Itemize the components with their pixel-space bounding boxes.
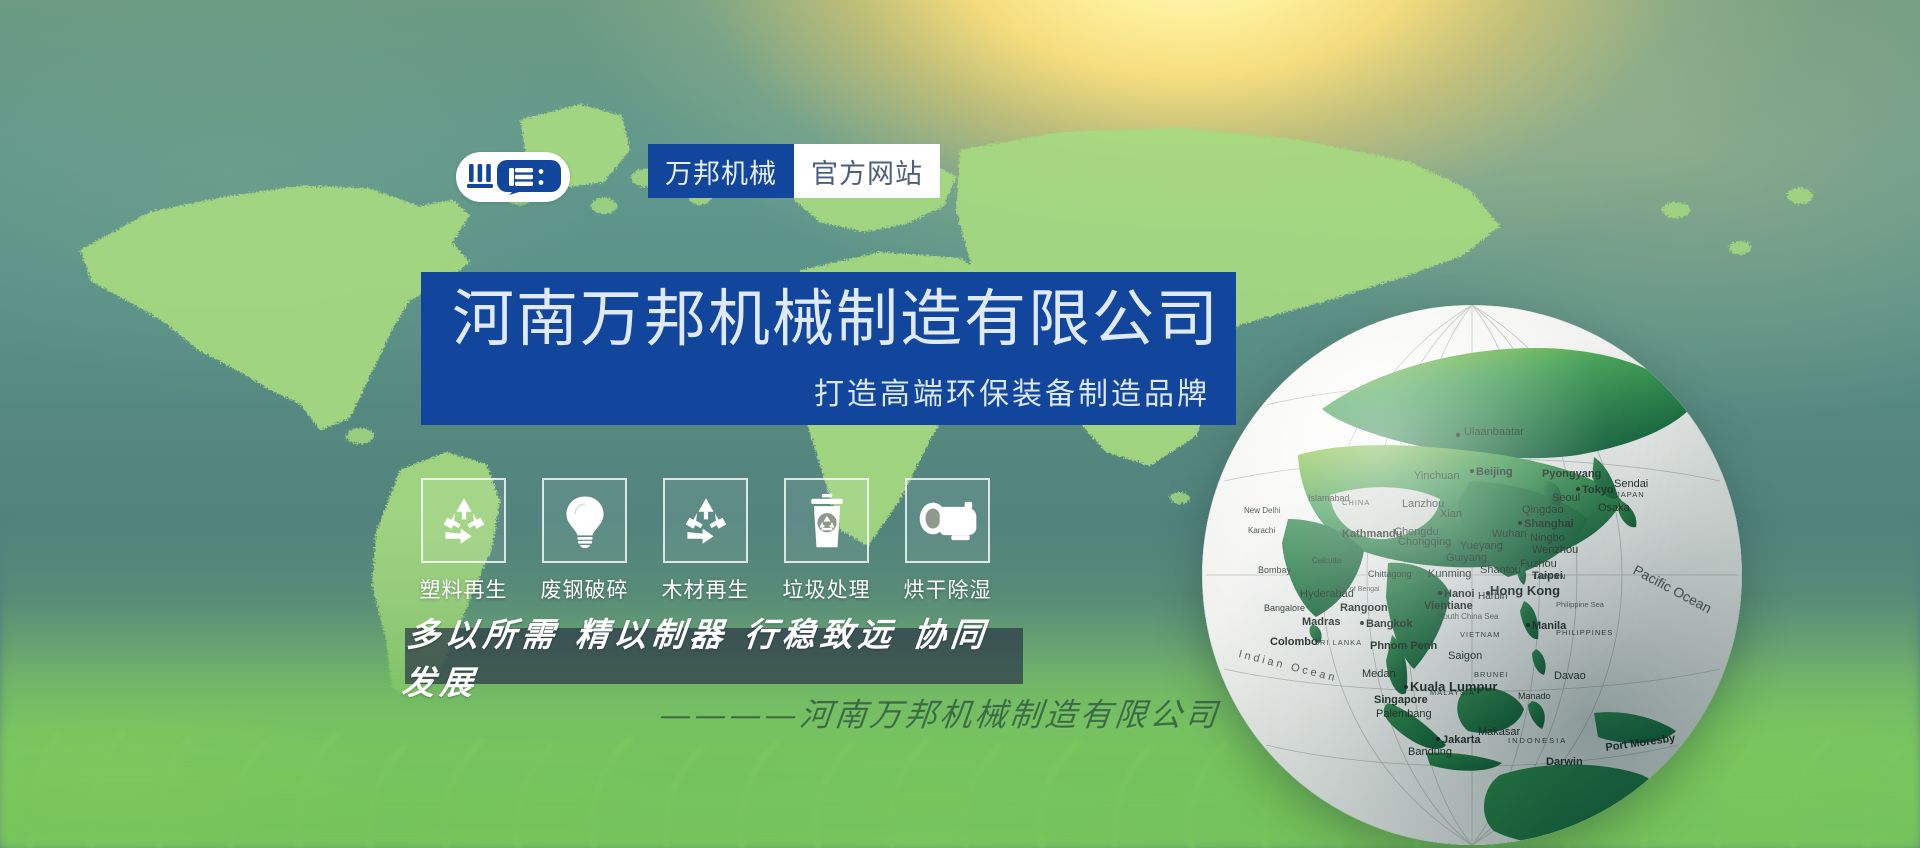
city-seoul: Seoul xyxy=(1552,492,1580,504)
city-sendai: Sendai xyxy=(1614,478,1648,490)
city-singapore: Singapore xyxy=(1374,694,1428,706)
city-bombay: Bombay xyxy=(1258,565,1292,575)
city-taipei: Taipei xyxy=(1532,570,1563,582)
feature-label: 木材再生 xyxy=(662,574,750,604)
city-madras: Madras xyxy=(1302,616,1341,628)
city-jakarta: Jakarta xyxy=(1442,734,1481,746)
recycle-icon xyxy=(679,494,733,548)
globe-map: Pacific Ocean Indian Ocean South China S… xyxy=(1202,305,1742,845)
speech-bubble-b-icon xyxy=(497,160,561,195)
top-nav: 万邦机械 官方网站 xyxy=(648,144,940,198)
city-osaka: Osaka xyxy=(1598,502,1631,514)
region-label-srilanka: SRI LANKA xyxy=(1314,638,1362,647)
trash-bin-icon xyxy=(805,493,849,549)
city-xian: Xian xyxy=(1440,508,1462,520)
city-kunming: Kunming xyxy=(1428,568,1471,580)
sea-label-south-china: South China Sea xyxy=(1438,612,1499,621)
sea-label-philippine: Philippine Sea xyxy=(1556,600,1605,609)
city-vientiane: Vientiane xyxy=(1424,600,1473,612)
feature-icon-box xyxy=(663,478,748,563)
city-bangalore: Bangalore xyxy=(1264,603,1305,613)
city-qingdao: Qingdao xyxy=(1522,504,1564,516)
city-ulaanbaatar: Ulaanbaatar xyxy=(1464,426,1524,438)
city-hyderabad: Hyderabad xyxy=(1300,588,1354,600)
city-hanoi: Hanoi xyxy=(1444,588,1475,600)
city-tokyo: Tokyo xyxy=(1582,484,1614,496)
slogan-text: 多以所需 精以制器 行稳致远 协同发展 xyxy=(402,628,1026,684)
globe-graphic: Pacific Ocean Indian Ocean South China S… xyxy=(1202,305,1742,845)
nav-official-site[interactable]: 官方网站 xyxy=(794,144,940,198)
city-manila: Manila xyxy=(1532,620,1567,632)
feature-label: 垃圾处理 xyxy=(783,574,871,604)
city-calcutta: Calcutta xyxy=(1312,556,1342,565)
city-saigon: Saigon xyxy=(1448,650,1482,662)
feature-item-plastic-recycling[interactable]: 塑料再生 xyxy=(421,478,506,604)
feature-icon-box xyxy=(421,478,506,563)
hero-banner: Pacific Ocean Indian Ocean South China S… xyxy=(0,0,1920,848)
feature-item-waste-treatment[interactable]: 垃圾处理 xyxy=(784,478,869,604)
lightbulb-icon xyxy=(560,494,610,548)
feature-label: 烘干除湿 xyxy=(904,574,992,604)
city-islamabad: Islamabad xyxy=(1308,493,1350,503)
city-newdelhi: New Delhi xyxy=(1244,506,1281,515)
city-colombo: Colombo xyxy=(1270,636,1318,648)
page-subtitle: 打造高端环保装备制造品牌 xyxy=(814,369,1210,413)
recycle-icon xyxy=(437,494,491,548)
city-kualalumpur: Kuala Lumpur xyxy=(1410,679,1497,694)
slogan-attribution: ————河南万邦机械制造有限公司 xyxy=(658,690,1223,736)
feature-item-wood-recycling[interactable]: 木材再生 xyxy=(663,478,748,604)
city-fuzhou: Fuzhou xyxy=(1520,558,1557,570)
feature-icon-box xyxy=(905,478,990,563)
city-chittagong: Chittagong xyxy=(1368,569,1412,579)
city-ningbo: Ningbo xyxy=(1530,532,1565,544)
wb-logo-mark xyxy=(463,158,563,196)
title-banner: 河南万邦机械制造有限公司 打造高端环保装备制造品牌 xyxy=(421,272,1236,425)
city-yinchuan: Yinchuan xyxy=(1414,470,1459,482)
feature-list: 塑料再生 废钢破碎 xyxy=(421,478,990,604)
city-shanghai: Shanghai xyxy=(1524,518,1574,530)
nav-brand[interactable]: 万邦机械 xyxy=(648,144,794,198)
city-phnompenh: Phnom Penh xyxy=(1370,640,1438,652)
city-yueyang: Yueyang xyxy=(1460,540,1503,552)
city-karachi: Karachi xyxy=(1248,526,1275,535)
city-chongqing: Chongqing xyxy=(1398,536,1451,548)
city-lanzhou: Lanzhou xyxy=(1402,498,1444,510)
city-medan: Medan xyxy=(1362,668,1396,680)
city-davao: Davao xyxy=(1554,670,1586,682)
city-manado: Manado xyxy=(1518,691,1551,701)
city-harbin: Harbin xyxy=(1478,591,1507,602)
city-wuhan: Wuhan xyxy=(1492,528,1527,540)
city-shantou: Shantou xyxy=(1480,564,1521,576)
feature-label: 废钢破碎 xyxy=(541,574,629,604)
wb-logo[interactable] xyxy=(456,152,570,202)
city-wenzhou: Wenzhou xyxy=(1532,544,1578,556)
city-palembang: Palembang xyxy=(1376,708,1432,720)
feature-item-drying-dehumidifying[interactable]: 烘干除湿 xyxy=(905,478,990,604)
city-pyongyang: Pyongyang xyxy=(1542,468,1601,480)
city-rangoon: Rangoon xyxy=(1340,602,1388,614)
region-label-japan: JAPAN xyxy=(1616,490,1645,499)
city-darwin: Darwin xyxy=(1546,756,1583,768)
feature-item-scrap-steel-crushing[interactable]: 废钢破碎 xyxy=(542,478,627,604)
w-letter-icon xyxy=(467,164,493,188)
region-label-vietnam: VIETNAM xyxy=(1460,630,1500,639)
city-kathmandu: Kathmandu xyxy=(1342,528,1403,540)
city-beijing: Beijing xyxy=(1476,466,1513,478)
city-makasar: Makasar xyxy=(1478,726,1521,738)
blower-dryer-icon xyxy=(918,500,978,542)
feature-icon-box xyxy=(784,478,869,563)
city-bandung: Bandung xyxy=(1408,746,1452,758)
feature-label: 塑料再生 xyxy=(420,574,508,604)
feature-icon-box xyxy=(542,478,627,563)
page-title: 河南万邦机械制造有限公司 xyxy=(452,284,1220,353)
city-bangkok: Bangkok xyxy=(1366,618,1413,630)
city-guiyang: Guiyang xyxy=(1446,552,1487,564)
region-label-brunei: BRUNEI xyxy=(1474,670,1508,679)
